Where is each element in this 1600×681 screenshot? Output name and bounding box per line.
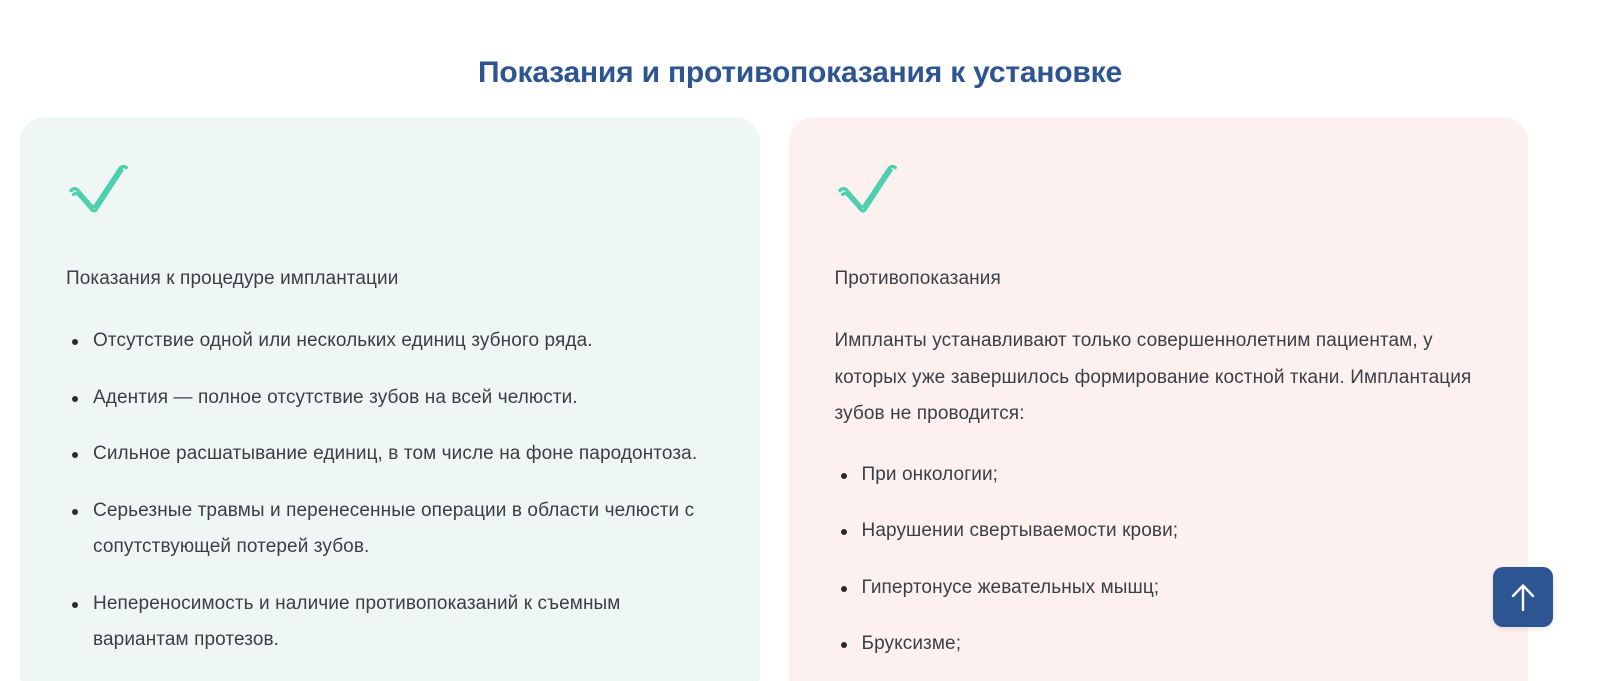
list-item: Отсутствие одной или нескольких единиц з…: [66, 323, 713, 360]
page-root: Показания и противопоказания к установке…: [0, 0, 1600, 681]
card-indications: Показания к процедуре имплантации Отсутс…: [20, 117, 760, 681]
card-contraindications-subtitle: Противопоказания: [835, 265, 1483, 293]
card-indications-subtitle: Показания к процедуре имплантации: [66, 265, 714, 293]
list-item: Гипертонусе жевательных мышц;: [835, 570, 1483, 607]
indications-list: Отсутствие одной или нескольких единиц з…: [66, 323, 714, 659]
check-icon: [837, 164, 899, 218]
list-item: При онкологии;: [835, 457, 1483, 494]
list-item: Бруксизме;: [835, 626, 1483, 663]
scroll-to-top-button[interactable]: [1493, 567, 1553, 627]
list-item: Непереносимость и наличие противопоказан…: [66, 586, 713, 659]
contraindications-list: При онкологии; Нарушении свертываемости …: [835, 457, 1483, 681]
list-item: Серьезные травмы и перенесенные операции…: [66, 493, 713, 566]
list-item: Адентия — полное отсутствие зубов на все…: [66, 380, 713, 417]
arrow-up-icon: [1509, 582, 1537, 612]
check-icon: [68, 164, 130, 218]
card-contraindications-paragraph: Импланты устанавливают только совершенно…: [835, 323, 1483, 433]
page-title: Показания и противопоказания к установке: [0, 51, 1600, 95]
card-contraindications: Противопоказания Импланты устанавливают …: [789, 117, 1529, 681]
list-item: Сильное расшатывание единиц, в том числе…: [66, 436, 713, 473]
cards-row: Показания к процедуре имплантации Отсутс…: [20, 117, 1528, 681]
list-item: Нарушении свертываемости крови;: [835, 513, 1483, 550]
